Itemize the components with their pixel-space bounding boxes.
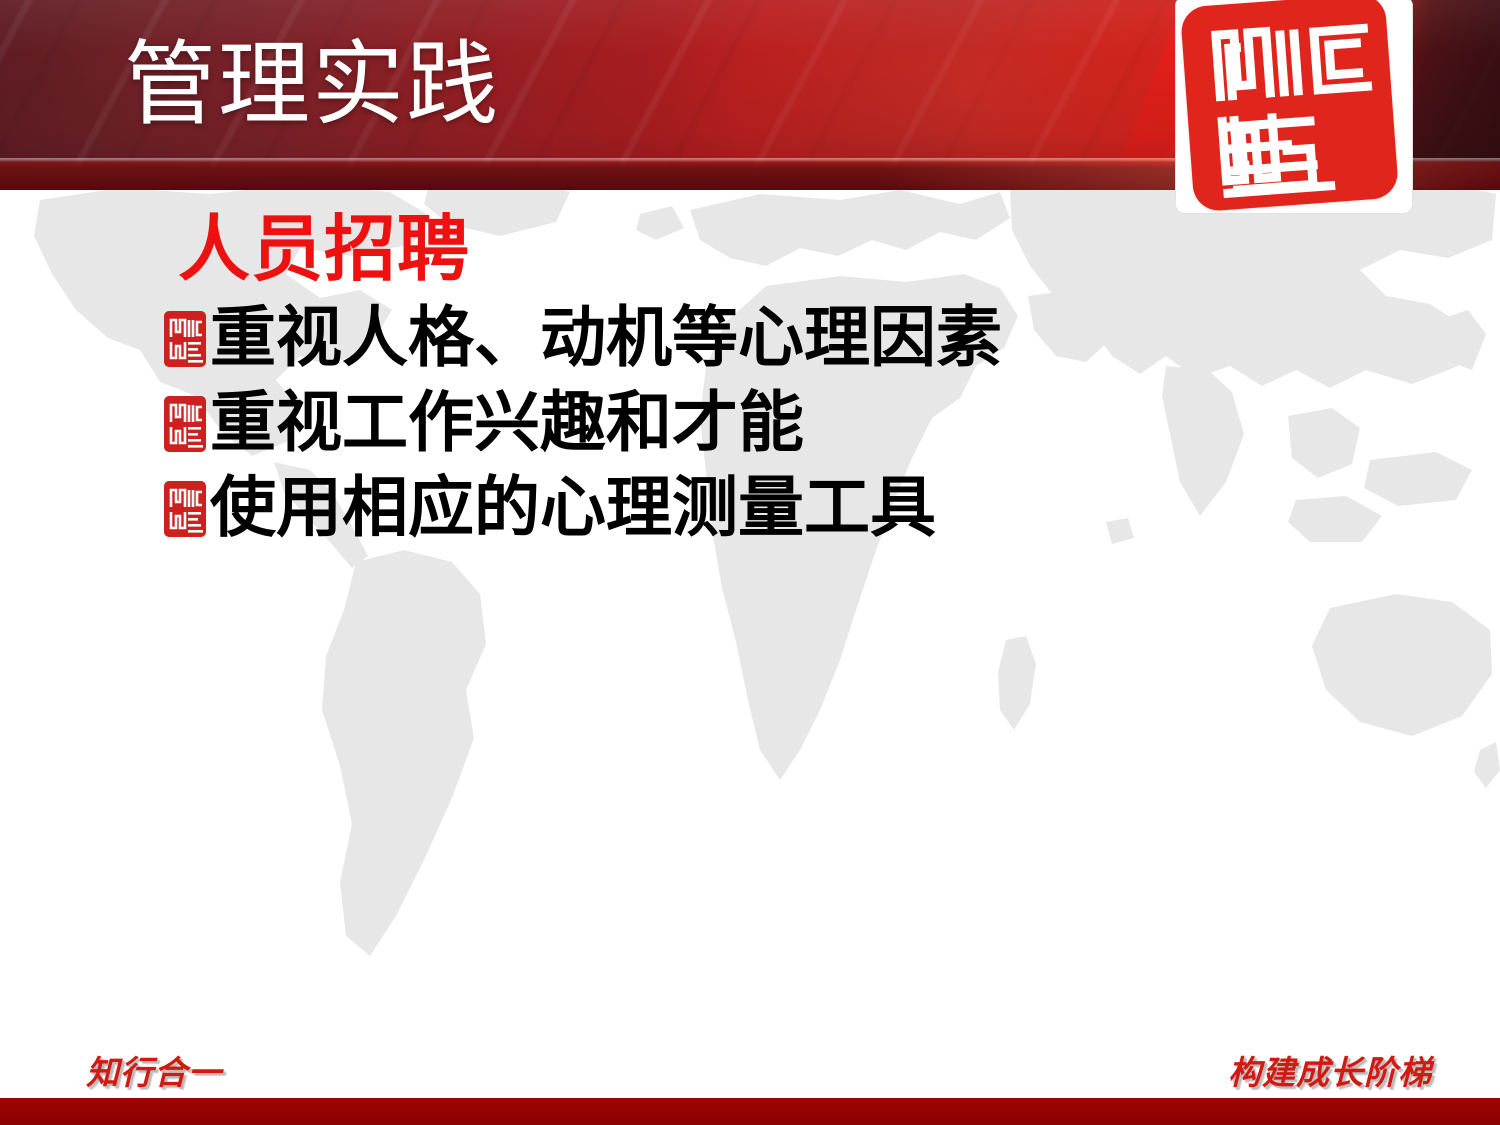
footer-slogan-left: 知行合一 <box>86 1046 222 1094</box>
list-item: 重视工作兴趣和才能 <box>164 381 1364 466</box>
list-item-label: 重视工作兴趣和才能 <box>210 391 804 457</box>
slide-bottom-bar <box>0 1098 1500 1125</box>
presentation-slide: 管理实践 <box>0 0 1500 1125</box>
mic-logo-bullet-icon <box>164 481 206 537</box>
bullet-list: 重视人格、动机等心理因素 <box>164 296 1364 551</box>
list-item: 使用相应的心理测量工具 <box>164 466 1364 551</box>
section-heading: 人员招聘 <box>178 214 470 286</box>
slide-body: 人员招聘 <box>0 0 1500 1125</box>
mic-logo-bullet-icon <box>164 311 206 367</box>
list-item: 重视人格、动机等心理因素 <box>164 296 1364 381</box>
list-item-label: 重视人格、动机等心理因素 <box>210 306 1002 372</box>
list-item-label: 使用相应的心理测量工具 <box>210 476 936 542</box>
footer-slogan-right: 构建成长阶梯 <box>1228 1046 1432 1094</box>
mic-logo-bullet-icon <box>164 396 206 452</box>
